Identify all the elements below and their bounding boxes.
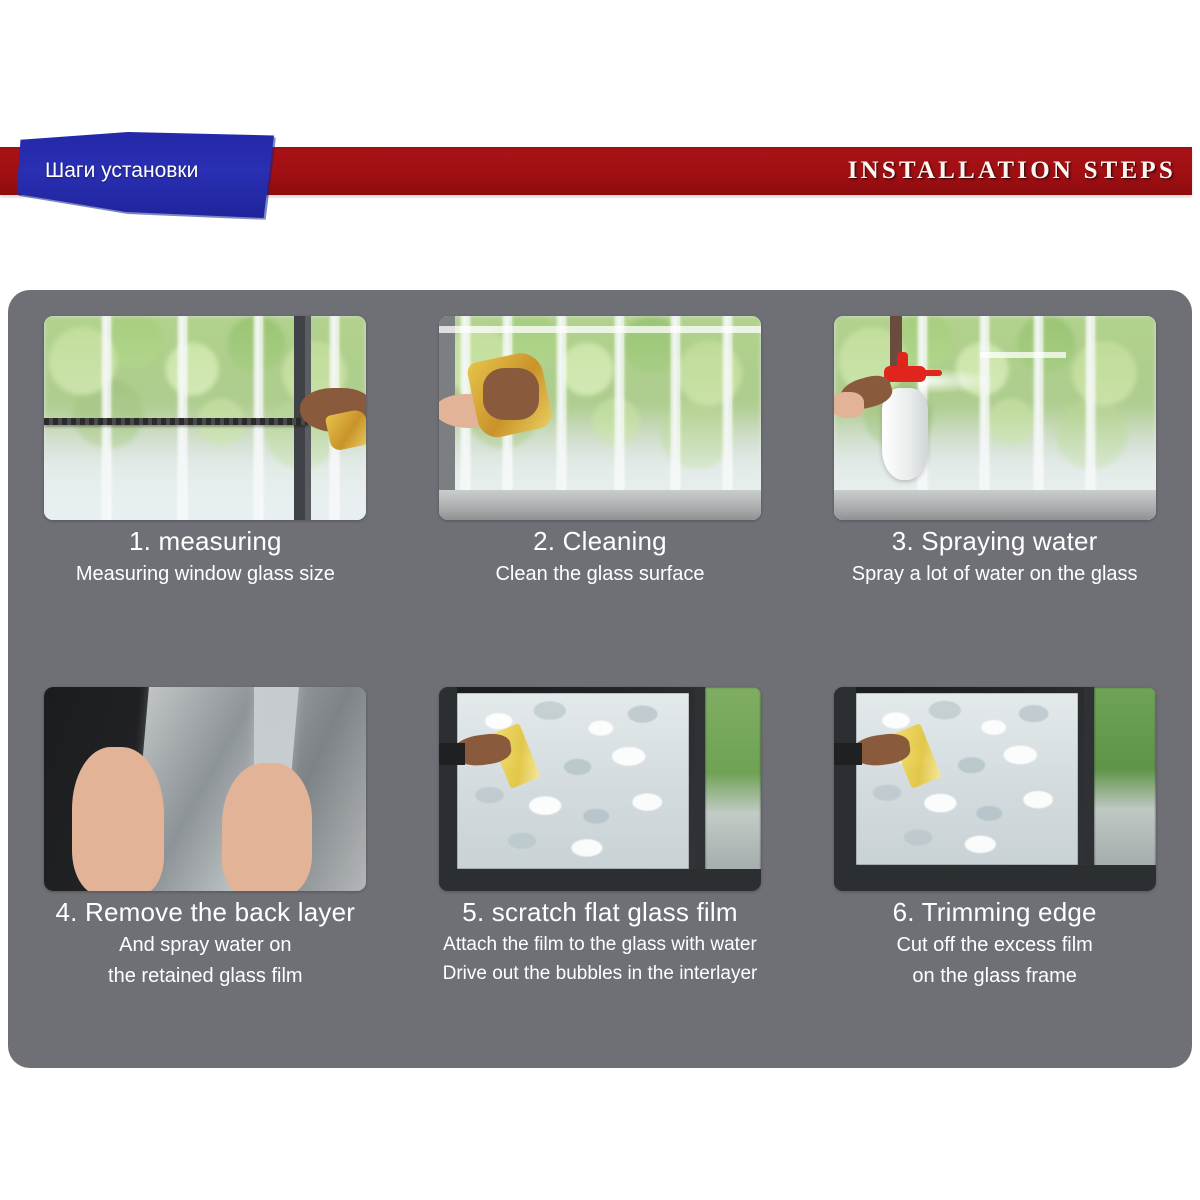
step-cell-3: 3. Spraying water Spray a lot of water o… (797, 290, 1192, 679)
step-2-description: Clean the glass surface (403, 561, 798, 588)
step-3-photo (834, 316, 1156, 520)
step-5-description-line2: Drive out the bubbles in the interlayer (403, 961, 798, 987)
step-6-photo (834, 687, 1156, 891)
step-1-description: Measuring window glass size (8, 561, 403, 588)
step-cell-5: 5. scratch flat glass film Attach the fi… (403, 679, 798, 1068)
step-cell-6: 6. Trimming edge Cut off the excess film… (797, 679, 1192, 1068)
step-6-description-line2: on the glass frame (797, 963, 1192, 990)
step-5-caption: 5. scratch flat glass film Attach the fi… (403, 897, 798, 987)
step-4-description-line2: the retained glass film (8, 963, 403, 990)
step-4-description: And spray water on (8, 932, 403, 959)
steps-panel: 1. measuring Measuring window glass size (8, 290, 1192, 1068)
step-1-title: 1. measuring (8, 526, 403, 557)
step-4-title: 4. Remove the back layer (8, 897, 403, 928)
installation-steps-tag: Шаги установки (14, 132, 274, 218)
steps-grid: 1. measuring Measuring window glass size (8, 290, 1192, 1068)
step-2-title: 2. Cleaning (403, 526, 798, 557)
step-5-photo (439, 687, 761, 891)
step-1-caption: 1. measuring Measuring window glass size (8, 526, 403, 588)
step-3-title: 3. Spraying water (797, 526, 1192, 557)
step-5-description: Attach the film to the glass with water (403, 932, 798, 958)
step-3-description: Spray a lot of water on the glass (797, 561, 1192, 588)
step-2-photo (439, 316, 761, 520)
step-2-caption: 2. Cleaning Clean the glass surface (403, 526, 798, 588)
banner-title: INSTALLATION STEPS (848, 157, 1176, 185)
step-6-title: 6. Trimming edge (797, 897, 1192, 928)
step-1-photo (44, 316, 366, 520)
step-4-caption: 4. Remove the back layer And spray water… (8, 897, 403, 990)
step-5-title: 5. scratch flat glass film (403, 897, 798, 928)
step-cell-1: 1. measuring Measuring window glass size (8, 290, 403, 679)
step-3-caption: 3. Spraying water Spray a lot of water o… (797, 526, 1192, 588)
step-cell-4: 4. Remove the back layer And spray water… (8, 679, 403, 1068)
step-cell-2: 2. Cleaning Clean the glass surface (403, 290, 798, 679)
step-6-description: Cut off the excess film (797, 932, 1192, 959)
tag-label: Шаги установки (45, 159, 198, 183)
step-6-caption: 6. Trimming edge Cut off the excess film… (797, 897, 1192, 990)
step-4-photo (44, 687, 366, 891)
